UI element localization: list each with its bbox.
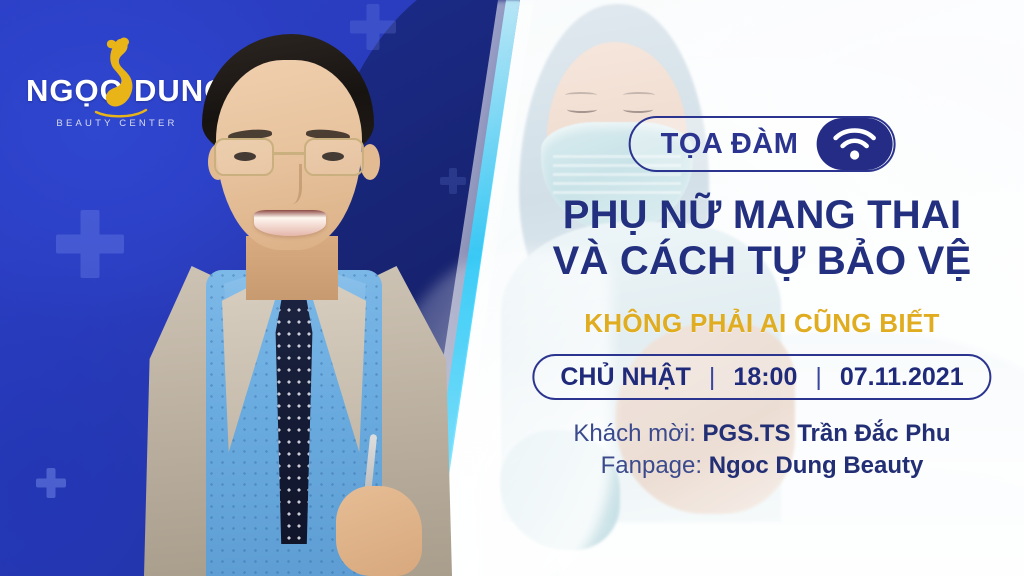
promo-content: TỌA ĐÀM PHỤ NỮ MANG THAI VÀ CÁCH TỰ BẢO … (500, 0, 1024, 576)
fanpage-line: Fanpage: Ngoc Dung Beauty (500, 450, 1024, 482)
fanpage-value: Ngoc Dung Beauty (709, 452, 924, 479)
eyeglass-lens-right (304, 138, 364, 176)
schedule-date: 07.11.2021 (840, 363, 964, 392)
schedule-separator-1: | (691, 363, 734, 392)
woman-figure-logo-icon (90, 36, 150, 122)
schedule-badge: CHỦ NHẬT | 18:00 | 07.11.2021 (532, 354, 991, 400)
talk-show-badge[interactable]: TỌA ĐÀM (629, 116, 896, 172)
guest-value: PGS.TS Trần Đắc Phu (703, 420, 951, 447)
schedule-separator-2: | (797, 363, 840, 392)
guest-line: Khách mời: PGS.TS Trần Đắc Phu (500, 418, 1024, 450)
fanpage-label: Fanpage: (601, 452, 702, 479)
guest-label: Khách mời: (573, 420, 695, 447)
headline-line-1: PHỤ NỮ MANG THAI (563, 193, 962, 237)
subtitle: KHÔNG PHẢI AI CŨNG BIẾT (500, 308, 1024, 339)
schedule-time: 18:00 (733, 363, 797, 392)
promo-banner: NGỌC DUNG BEAUTY CENTER (0, 0, 1024, 576)
doctor-portrait-photo (150, 34, 440, 576)
doctor-smile (254, 210, 326, 236)
headline-line-2: VÀ CÁCH TỰ BẢO VỆ (500, 238, 1024, 284)
wifi-icon (816, 118, 892, 170)
doctor-nose (278, 164, 302, 204)
eyeglass-lens-left (214, 138, 274, 176)
plus-shape-icon-tiny (440, 168, 466, 194)
eyeglass-bridge (274, 152, 304, 155)
event-info: Khách mời: PGS.TS Trần Đắc Phu Fanpage: … (500, 418, 1024, 482)
plus-shape-icon-small (36, 468, 66, 498)
plus-shape-icon-large (56, 210, 124, 278)
doctor-hands (336, 486, 422, 576)
page-title: PHỤ NỮ MANG THAI VÀ CÁCH TỰ BẢO VỆ (500, 192, 1024, 284)
talk-show-badge-label: TỌA ĐÀM (661, 128, 817, 161)
schedule-day: CHỦ NHẬT (560, 363, 691, 392)
